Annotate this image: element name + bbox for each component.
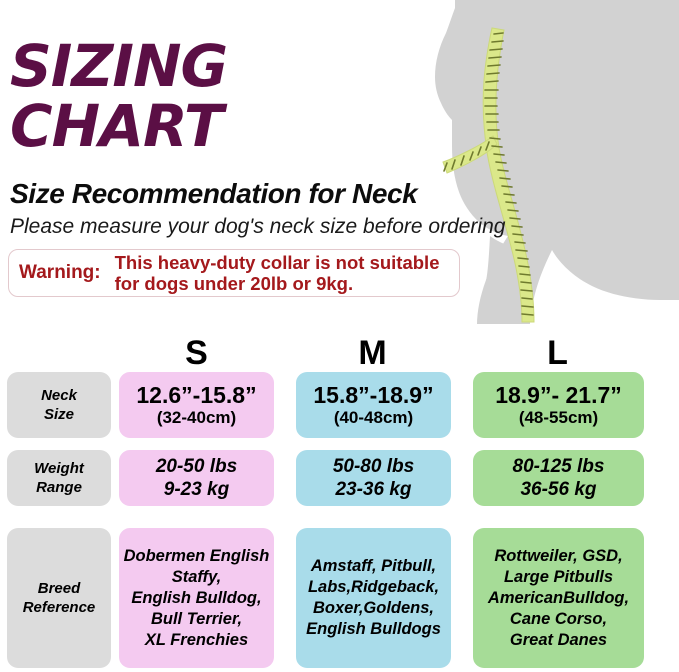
cell-breed-reference-l-line-4: Cane Corso,	[510, 609, 607, 630]
warning-box: Warning: This heavy-duty collar is not s…	[8, 249, 460, 297]
cell-breed-reference-l-line-1: Rottweiler, GSD,	[494, 546, 622, 567]
cell-weight-range-m-line-1: 50-80 lbs	[333, 455, 414, 478]
cell-weight-range-l: 80-125 lbs 36-56 kg	[473, 450, 644, 506]
cell-breed-reference-s-line-3: English Bulldog,	[131, 588, 261, 609]
cell-neck-size-s-main: 12.6”-15.8”	[136, 382, 256, 408]
row-label-weight-range: Weight Range	[7, 450, 111, 506]
cell-neck-size-s: 12.6”-15.8” (32-40cm)	[119, 372, 274, 438]
page-subtitle: Size Recommendation for Neck	[10, 178, 417, 210]
cell-breed-reference-m-line-4: English Bulldogs	[306, 619, 441, 640]
cell-neck-size-l: 18.9”- 21.7” (48-55cm)	[473, 372, 644, 438]
row-label-weight-range-line-1: Weight	[34, 459, 84, 478]
warning-label: Warning:	[19, 262, 101, 284]
cell-neck-size-m: 15.8”-18.9” (40-48cm)	[296, 372, 451, 438]
cell-breed-reference-s-line-2: Staffy,	[172, 567, 222, 588]
cell-breed-reference-m: Amstaff, Pitbull, Labs,Ridgeback, Boxer,…	[296, 528, 451, 668]
row-label-breed-reference-line-1: Breed	[38, 579, 81, 598]
row-label-breed-reference-line-2: Reference	[23, 598, 96, 617]
row-label-breed-reference: Breed Reference	[7, 528, 111, 668]
cell-neck-size-s-sub: (32-40cm)	[157, 408, 236, 428]
cell-weight-range-m: 50-80 lbs 23-36 kg	[296, 450, 451, 506]
cell-breed-reference-s-line-5: XL Frenchies	[145, 630, 248, 651]
cell-breed-reference-m-line-3: Boxer,Goldens,	[313, 598, 434, 619]
row-label-neck-size-line-1: Neck	[41, 386, 77, 405]
measure-instruction: Please measure your dog's neck size befo…	[10, 215, 505, 239]
size-header-s: S	[124, 334, 269, 373]
warning-message: This heavy-duty collar is not suitable f…	[115, 252, 440, 294]
cell-breed-reference-l: Rottweiler, GSD, Large Pitbulls American…	[473, 528, 644, 668]
size-header-l: L	[480, 334, 635, 373]
title-line-2: CHART	[10, 96, 480, 156]
title-line-1: SIZING	[10, 36, 480, 96]
cell-neck-size-l-main: 18.9”- 21.7”	[495, 382, 622, 408]
row-label-weight-range-line-2: Range	[36, 478, 82, 497]
row-label-neck-size-line-2: Size	[44, 405, 74, 424]
cell-neck-size-m-main: 15.8”-18.9”	[313, 382, 433, 408]
size-header-m: M	[300, 334, 445, 373]
cell-weight-range-s: 20-50 lbs 9-23 kg	[119, 450, 274, 506]
cell-neck-size-l-sub: (48-55cm)	[519, 408, 598, 428]
cell-weight-range-s-line-1: 20-50 lbs	[156, 455, 237, 478]
cell-neck-size-m-sub: (40-48cm)	[334, 408, 413, 428]
page-title: SIZING CHART	[10, 36, 480, 156]
cell-breed-reference-s: Dobermen English Staffy, English Bulldog…	[119, 528, 274, 668]
cell-breed-reference-m-line-1: Amstaff, Pitbull,	[311, 556, 436, 577]
cell-weight-range-l-line-2: 36-56 kg	[520, 478, 596, 501]
cell-weight-range-s-line-2: 9-23 kg	[164, 478, 229, 501]
cell-weight-range-l-line-1: 80-125 lbs	[513, 455, 605, 478]
cell-breed-reference-m-line-2: Labs,Ridgeback,	[308, 577, 439, 598]
warning-message-line-2: for dogs under 20lb or 9kg.	[115, 273, 440, 294]
cell-breed-reference-s-line-4: Bull Terrier,	[151, 609, 242, 630]
cell-breed-reference-l-line-2: Large Pitbulls	[504, 567, 613, 588]
cell-breed-reference-l-line-3: AmericanBulldog,	[488, 588, 629, 609]
sizing-chart-page: SIZING CHART Size Recommendation for Nec…	[0, 0, 679, 672]
cell-breed-reference-l-line-5: Great Danes	[510, 630, 607, 651]
cell-weight-range-m-line-2: 23-36 kg	[335, 478, 411, 501]
warning-message-line-1: This heavy-duty collar is not suitable	[115, 252, 440, 273]
row-label-neck-size: Neck Size	[7, 372, 111, 438]
cell-breed-reference-s-line-1: Dobermen English	[124, 546, 270, 567]
